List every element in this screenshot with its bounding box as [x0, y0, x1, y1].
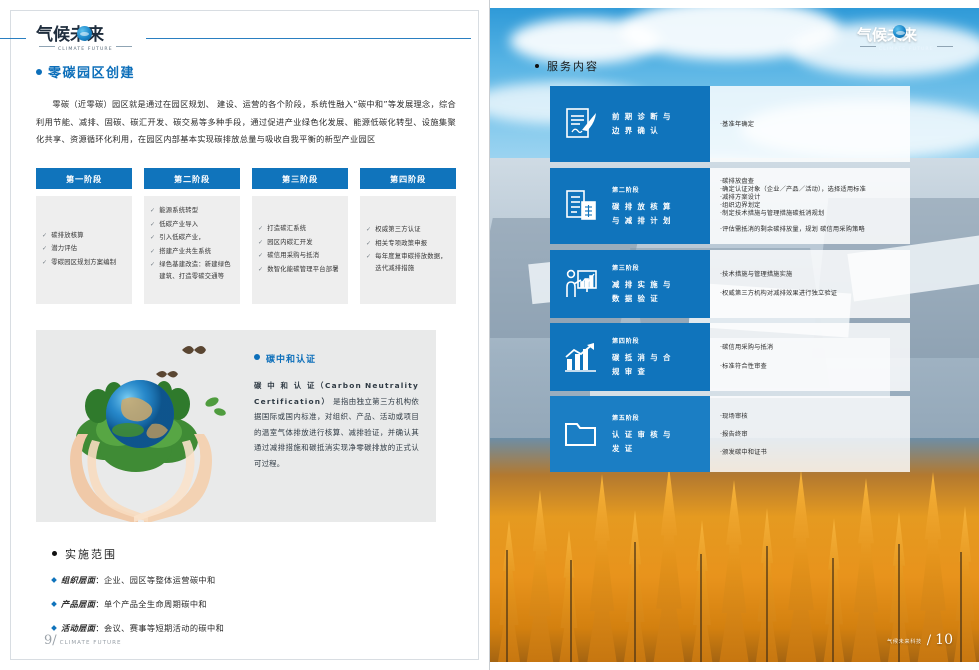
left-page: 气候未来 CLIMATE FUTURE 零碳园区创建 零碳（近零碳）园区就是通过…	[0, 0, 489, 670]
stage-column-3: 第三阶段 ✓打造碳汇系统 ✓园区内碳汇开发 ✓碳信用采购与抵消 ✓数智化能碳管理…	[252, 168, 348, 304]
presentation-chart-person-icon	[550, 267, 612, 301]
header-rule-left	[0, 38, 26, 39]
stage-column-2: 第二阶段 ✓能源系统转型 ✓低碳产业导入 ✓引入低碳产业， ✓搭建产业共生系统 …	[144, 168, 240, 304]
detail-item: ·评估需抵消的剩余碳排放量，规划 碳信用采购策略	[720, 224, 900, 235]
detail-item: ·碳排放盘查	[720, 178, 900, 186]
detail-item: ·碳信用采购与抵消	[720, 342, 900, 353]
stage-header: 第一阶段	[36, 168, 132, 189]
list-item: ✓绿色基建改造：新建绿色建筑、打造零碳交通等	[150, 259, 234, 282]
check-icon: ✓	[42, 243, 47, 255]
globe-icon	[893, 25, 906, 38]
stage-body: ✓碳排放核算 ✓潜力评估 ✓零碳园区规划方案编制	[36, 196, 132, 304]
check-icon: ✓	[258, 237, 263, 249]
page-title: 零碳园区创建	[36, 62, 135, 81]
stage-body: ✓能源系统转型 ✓低碳产业导入 ✓引入低碳产业， ✓搭建产业共生系统 ✓绿色基建…	[144, 196, 240, 304]
logo-text-en: CLIMATE FUTURE	[36, 46, 135, 52]
bullet-icon	[52, 551, 57, 556]
service-row-detail: ·基准年确定	[710, 86, 910, 162]
bullet-icon	[254, 354, 260, 360]
diamond-icon	[51, 601, 57, 607]
certification-term-cn: 碳 中 和 认 证（Carbon	[254, 381, 362, 390]
brochure-spread: 气候未来 CLIMATE FUTURE 零碳园区创建 零碳（近零碳）园区就是通过…	[0, 0, 979, 670]
stage-header: 第三阶段	[252, 168, 348, 189]
list-item: ✓低碳产业导入	[150, 219, 234, 231]
detail-item: ·组织边界划定	[720, 202, 900, 210]
logo-climate-future: 气候未来 CLIMATE FUTURE	[36, 24, 146, 58]
footer-slash: /	[927, 633, 931, 648]
header-rule-right	[146, 38, 471, 39]
certification-text: 碳中和认证 碳 中 和 认 证（Carbon Neutrality Certif…	[254, 352, 419, 471]
check-icon: ✓	[150, 246, 155, 258]
certification-title: 碳中和认证	[254, 352, 419, 365]
intro-paragraph: 零碳（近零碳）园区就是通过在园区规划、 建设、运营的各个阶段，系统性融入“碳中和…	[36, 96, 456, 149]
globe-icon	[77, 26, 92, 41]
service-row-label: 第二阶段 碳 排 放 核 算 与 减 排 计 划	[550, 168, 710, 244]
bullet-icon	[36, 69, 42, 75]
certification-definition: 是指由独立第三方机构依据国际或国内标准，对组织、产品、活动或项目的温室气体排放进…	[254, 397, 419, 468]
service-row-label: 第三阶段 减 排 实 施 与 数 据 验 证	[550, 250, 710, 318]
check-icon: ✓	[150, 205, 155, 217]
check-icon: ✓	[366, 224, 371, 236]
stage-header: 第二阶段	[144, 168, 240, 189]
list-item: ✓碳信用采购与抵消	[258, 250, 342, 262]
list-item: ✓打造碳汇系统	[258, 223, 342, 235]
service-row-3: 第三阶段 减 排 实 施 与 数 据 验 证 ·技术措施与管理措施实施 ·权威第…	[550, 250, 910, 318]
logo-text-cn: 气候未来	[36, 26, 104, 44]
detail-item: ·制定技术措施与管理措施碳抵消规划	[720, 210, 900, 218]
list-item: ✓引入低碳产业，	[150, 232, 234, 244]
list-item: ✓能源系统转型	[150, 205, 234, 217]
detail-item: ·基准年确定	[720, 119, 900, 130]
list-item: ✓每年度复审碳排放数据，迭代减排措施	[366, 251, 450, 274]
stage-header: 第四阶段	[360, 168, 456, 189]
scope-title: 实施范围	[52, 546, 224, 562]
right-page: 气候未来 CLIMATE FUTURE 服务内容	[490, 0, 979, 670]
service-row-2: 第二阶段 碳 排 放 核 算 与 减 排 计 划 ·碳排放盘查 ·确定认证对象（…	[550, 168, 910, 244]
left-page-footer: 9/CLIMATE FUTURE	[44, 629, 122, 648]
service-row-title: 第三阶段 减 排 实 施 与 数 据 验 证	[612, 262, 672, 306]
check-icon: ✓	[366, 251, 371, 274]
ledger-calculator-icon	[550, 188, 612, 224]
list-item: ✓零碳园区规划方案编制	[42, 257, 126, 269]
growth-bar-chart-icon	[550, 341, 612, 373]
detail-item: ·减排方案设计	[720, 194, 900, 202]
check-icon: ✓	[258, 264, 263, 276]
document-pen-icon	[550, 106, 612, 142]
list-item: ✓碳排放核算	[42, 230, 126, 242]
footer-brand: 气候未来科技	[887, 638, 922, 648]
service-row-detail: ·技术措施与管理措施实施 ·权威第三方机构对减排效果进行独立验证	[710, 250, 910, 318]
certification-body: 碳 中 和 认 证（Carbon Neutrality Certificatio…	[254, 378, 419, 471]
detail-item: ·标准符合性审查	[720, 361, 900, 372]
service-row-1: 前 期 诊 断 与 边 界 确 认 ·基准年确定	[550, 86, 910, 162]
service-row-5: 第五阶段 认 证 审 核 与 发 证 ·现场审核 ·报告终审 ·颁发碳中和证书	[550, 396, 910, 472]
stage-column-1: 第一阶段 ✓碳排放核算 ✓潜力评估 ✓零碳园区规划方案编制	[36, 168, 132, 304]
check-icon: ✓	[150, 219, 155, 231]
diamond-icon	[51, 577, 57, 583]
folder-icon	[550, 419, 612, 449]
list-item: ✓园区内碳汇开发	[258, 237, 342, 249]
stage-body: ✓打造碳汇系统 ✓园区内碳汇开发 ✓碳信用采购与抵消 ✓数智化能碳管理平台部署	[252, 196, 348, 304]
service-row-label: 第四阶段 碳 抵 消 与 合 规 审 查	[550, 323, 710, 391]
service-row-title: 第二阶段 碳 排 放 核 算 与 减 排 计 划	[612, 184, 672, 228]
check-icon: ✓	[150, 259, 155, 282]
check-icon: ✓	[258, 223, 263, 235]
check-icon: ✓	[42, 230, 47, 242]
service-row-title: 第四阶段 碳 抵 消 与 合 规 审 查	[612, 335, 672, 379]
footer-brand: CLIMATE FUTURE	[60, 640, 122, 646]
detail-item: ·颁发碳中和证书	[720, 447, 900, 458]
list-item: ✓潜力评估	[42, 243, 126, 255]
service-content-title: 服务内容	[535, 58, 599, 74]
check-icon: ✓	[366, 238, 371, 250]
service-row-detail: ·现场审核 ·报告终审 ·颁发碳中和证书	[710, 396, 910, 472]
detail-item: ·报告终审	[720, 429, 900, 440]
check-icon: ✓	[150, 232, 155, 244]
service-row-detail: ·碳信用采购与抵消 ·标准符合性审查	[710, 323, 910, 391]
certification-panel: 碳中和认证 碳 中 和 认 证（Carbon Neutrality Certif…	[36, 330, 436, 522]
list-item: ✓数智化能碳管理平台部署	[258, 264, 342, 276]
service-row-title: 前 期 诊 断 与 边 界 确 认	[612, 110, 672, 138]
detail-item: ·权威第三方机构对减排效果进行独立验证	[720, 288, 900, 299]
scope-item: 组织层面：企业、园区等整体运营碳中和	[52, 574, 224, 586]
list-item: ✓权威第三方认证	[366, 224, 450, 236]
service-row-label: 第五阶段 认 证 审 核 与 发 证	[550, 396, 710, 472]
hands-earth-image	[36, 330, 246, 522]
detail-item: ·确定认证对象（企业／产品／活动），选择适用标准	[720, 186, 900, 194]
service-row-detail: ·碳排放盘查 ·确定认证对象（企业／产品／活动），选择适用标准 ·减排方案设计 …	[710, 168, 910, 244]
stage-body: ✓权威第三方认证 ✓相关专项政策申报 ✓每年度复审碳排放数据，迭代减排措施	[360, 196, 456, 304]
logo-text-en: CLIMATE FUTURE	[857, 46, 956, 52]
detail-item: ·现场审核	[720, 411, 900, 422]
detail-item: ·技术措施与管理措施实施	[720, 269, 900, 280]
right-page-footer: 气候未来科技 / 10	[887, 632, 953, 648]
page-number: 10	[935, 632, 953, 648]
logo-text-cn: 气候未来	[857, 26, 917, 44]
list-item: ✓搭建产业共生系统	[150, 246, 234, 258]
bullet-icon	[535, 64, 539, 68]
scope-item: 产品层面：单个产品全生命周期碳中和	[52, 598, 224, 610]
stage-column-4: 第四阶段 ✓权威第三方认证 ✓相关专项政策申报 ✓每年度复审碳排放数据，迭代减排…	[360, 168, 456, 304]
logo-climate-future-right: 气候未来 CLIMATE FUTURE	[857, 24, 957, 54]
scope-section: 实施范围 组织层面：企业、园区等整体运营碳中和 产品层面：单个产品全生命周期碳中…	[52, 546, 224, 634]
service-row-label: 前 期 诊 断 与 边 界 确 认	[550, 86, 710, 162]
footer-slash: /	[52, 633, 56, 648]
service-row-title: 第五阶段 认 证 审 核 与 发 证	[612, 412, 672, 456]
list-item: ✓相关专项政策申报	[366, 238, 450, 250]
service-row-4: 第四阶段 碳 抵 消 与 合 规 审 查 ·碳信用采购与抵消 ·标准符合性审查	[550, 323, 910, 391]
check-icon: ✓	[42, 257, 47, 269]
check-icon: ✓	[258, 250, 263, 262]
